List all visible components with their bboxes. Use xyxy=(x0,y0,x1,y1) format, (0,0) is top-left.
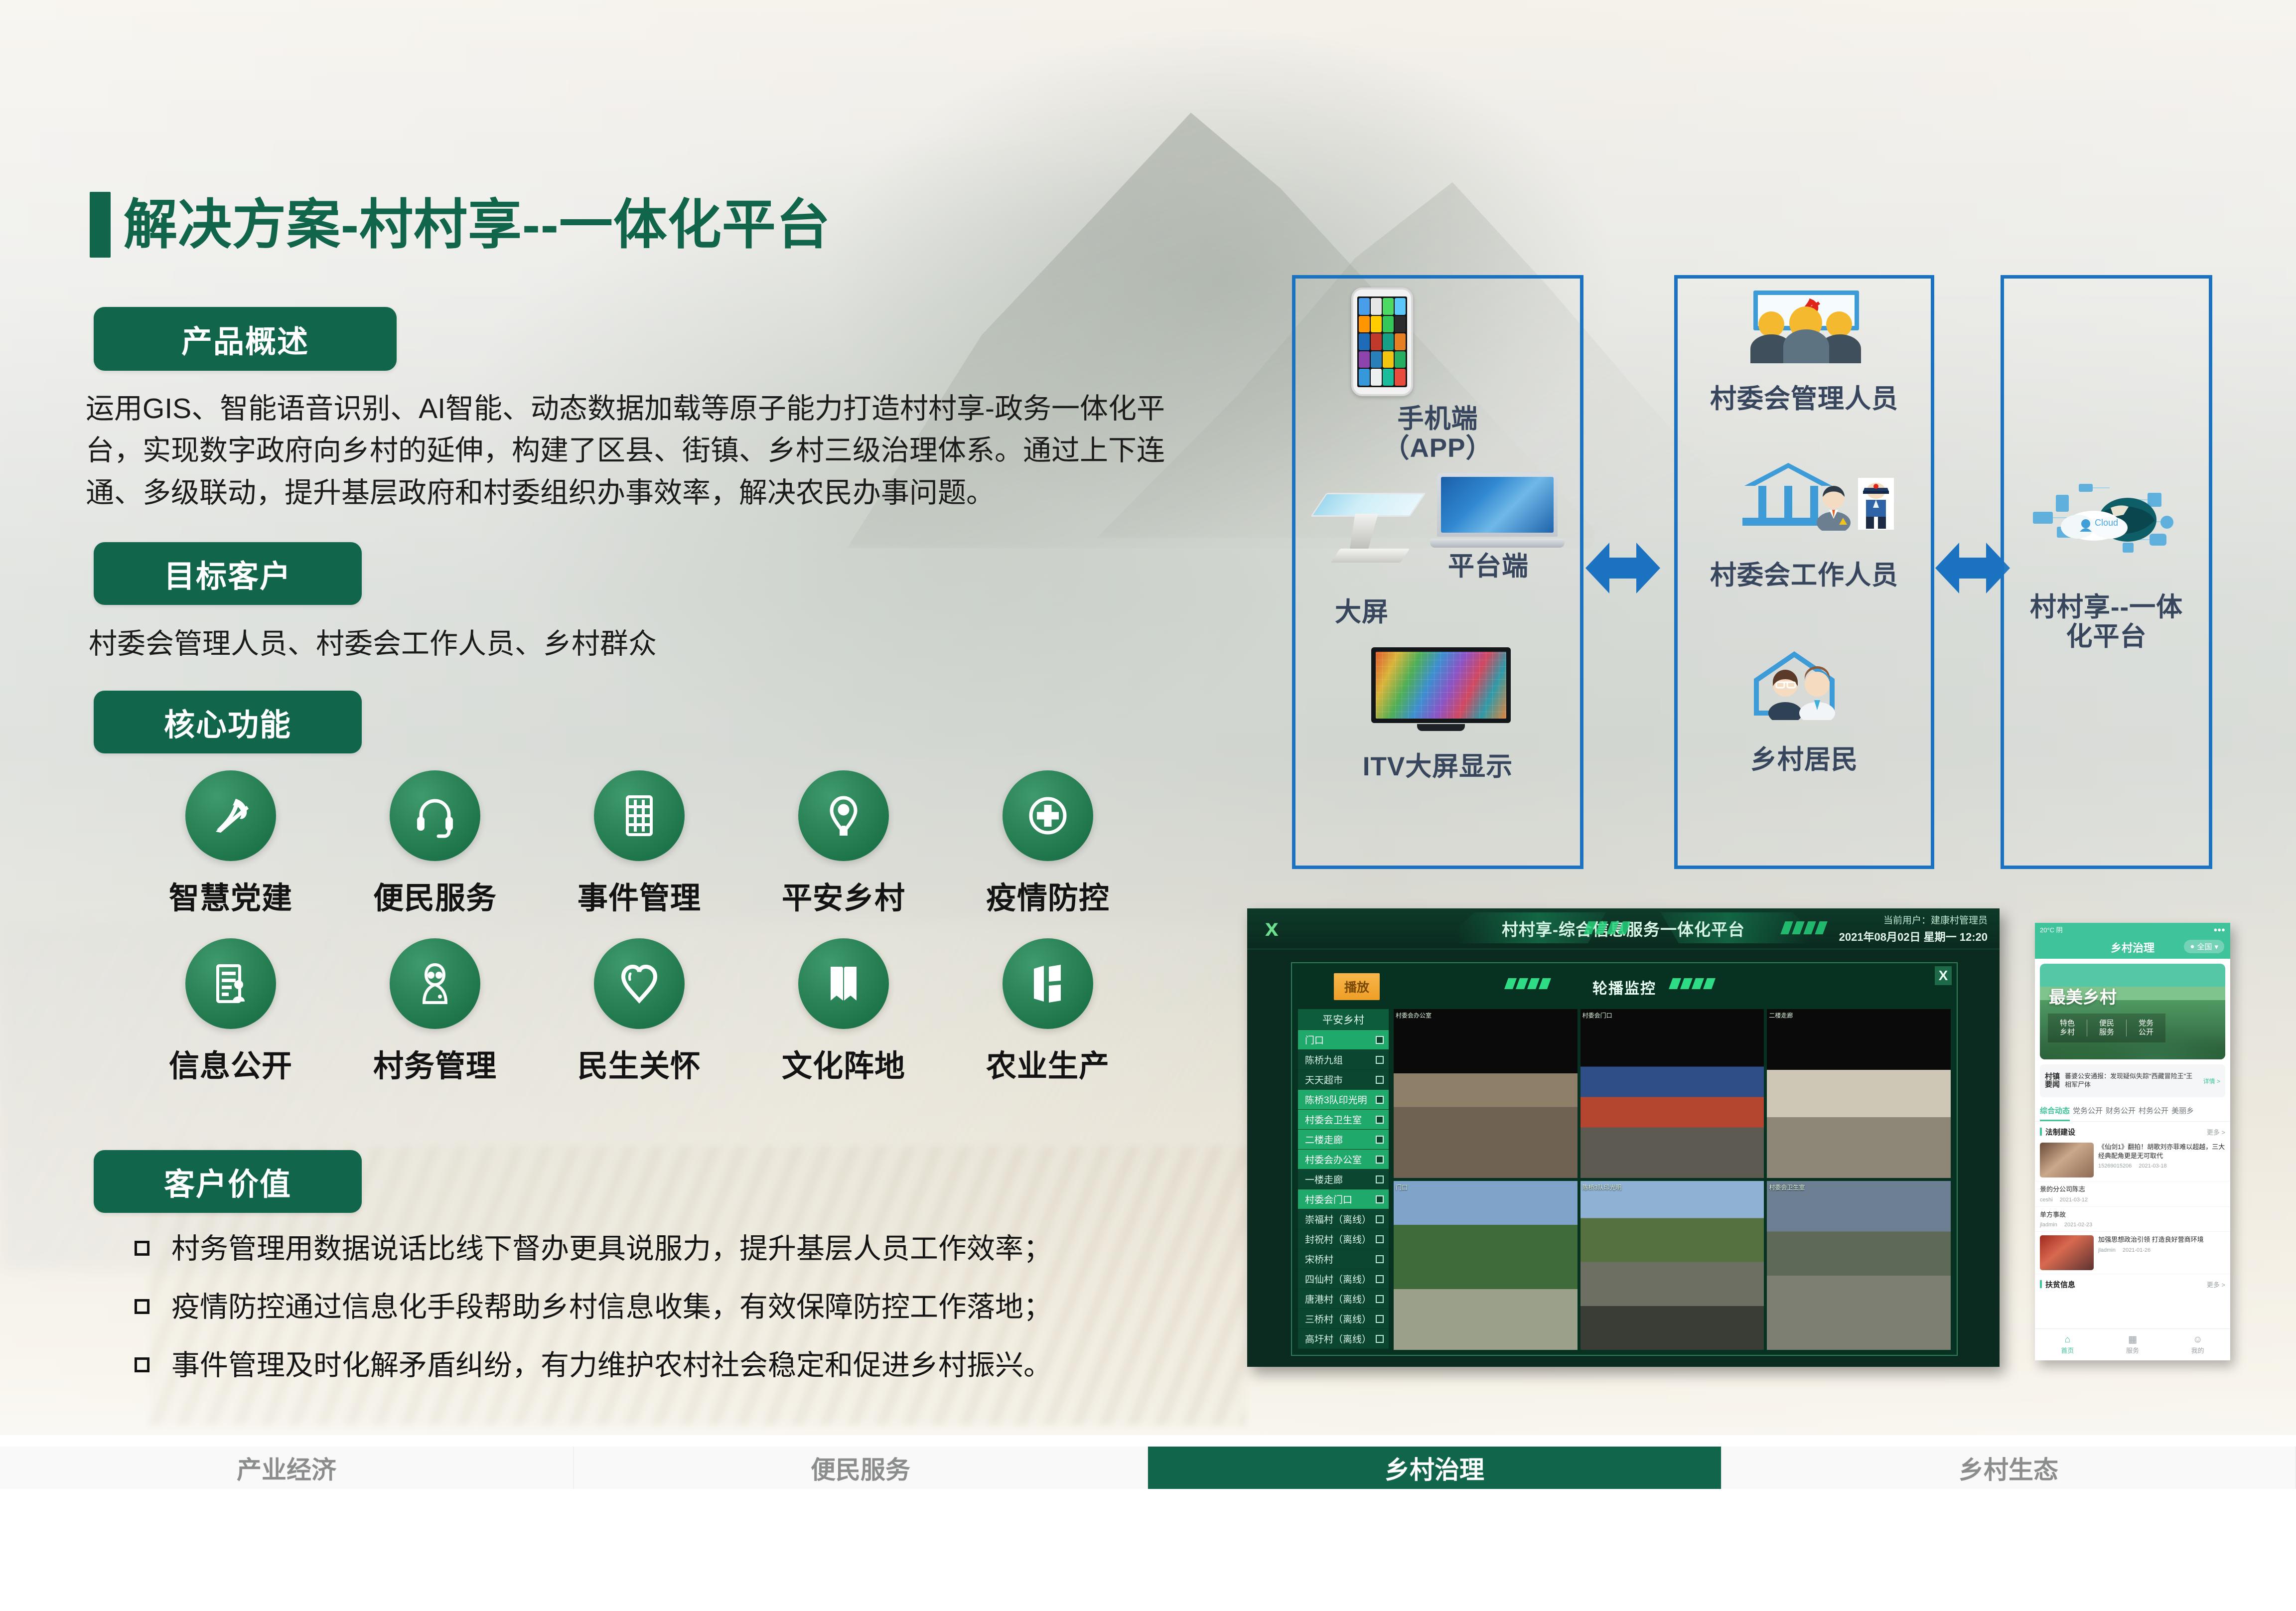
camera-tile[interactable]: 门口 xyxy=(1394,1181,1578,1350)
home-icon: ⌂ xyxy=(2035,1334,2100,1346)
camera-list-item[interactable]: 村委会门口 xyxy=(1298,1189,1389,1209)
heart-icon xyxy=(594,938,685,1029)
item-author: ceshi xyxy=(2040,1197,2053,1203)
television-icon xyxy=(1371,647,1511,734)
camera-list-item[interactable]: 陈桥九组 xyxy=(1298,1050,1389,1070)
bullet-text: 村务管理用数据说话比线下督办更具说服力，提升基层人员工作效率； xyxy=(171,1230,1052,1268)
bullet-square-icon xyxy=(135,1357,149,1372)
section-title: 法制建设 xyxy=(2045,1128,2075,1137)
location-selector[interactable]: ● 全国 ▾ xyxy=(2184,940,2224,953)
list-item[interactable]: 单方事故 jladmin 2021-02-23 xyxy=(2035,1207,2230,1232)
user-line: 当前用户：建康村管理员 xyxy=(1839,913,1988,928)
medical-cross-icon xyxy=(1003,770,1093,861)
bullet-text: 事件管理及时化解矛盾纠纷，有力维护农村社会稳定和促进乡村振兴。 xyxy=(171,1346,1052,1385)
bottom-nav-services[interactable]: ▦ 服务 xyxy=(2100,1334,2165,1355)
architecture-panel-platform: Cloud 村村享--一体 化平台 xyxy=(2001,275,2212,869)
current-user-info: 当前用户：建康村管理员 2021年08月02日 星期一 12:20 xyxy=(1839,913,1988,946)
item-title: 《仙剑1》翻拍！胡歌刘亦菲难以超越，三大经典配角更是无可取代 xyxy=(2098,1143,2225,1160)
checkbox-icon[interactable] xyxy=(1376,1116,1384,1124)
section-heading-functions: 核心功能 xyxy=(94,691,362,753)
double-arrow-icon xyxy=(1585,536,1660,600)
camera-list-item[interactable]: 一楼走廊 xyxy=(1298,1170,1389,1189)
grid-icon: ▦ xyxy=(2100,1334,2165,1346)
architecture-panel-roles: 村委会管理人员 xyxy=(1674,275,1934,869)
architecture-panel-terminals: 手机端 （APP） 平台端 大屏 ITV大屏显示 xyxy=(1292,275,1583,869)
banner-title: 最美乡村 xyxy=(2049,984,2117,1008)
header-stripes-right xyxy=(1783,921,1825,934)
banner-tab-featured-village[interactable]: 特色乡村 xyxy=(2048,1019,2087,1037)
function-item-village-affairs[interactable]: 村务管理 xyxy=(333,938,537,1085)
checkbox-icon[interactable] xyxy=(1376,1335,1384,1343)
kiosk-icon xyxy=(1318,493,1423,569)
grid-building-icon xyxy=(594,770,685,861)
item-date: 2021-03-12 xyxy=(2060,1197,2088,1203)
camera-list-item[interactable]: 高圩村（离线） xyxy=(1298,1329,1389,1349)
laptop-icon xyxy=(1430,473,1565,548)
function-label: 智慧党建 xyxy=(169,873,292,917)
location-pin-icon: ● xyxy=(2190,942,2194,951)
section-heading-overview: 产品概述 xyxy=(94,307,397,371)
section-header-legal: 法制建设 更多 > xyxy=(2035,1122,2230,1139)
checkbox-icon[interactable] xyxy=(1376,1036,1384,1044)
carousel-monitor-dialog: X 轮播监控 播放 平安乡村 门口 陈桥九组 天天超市 陈桥3队印光明 村委会卫… xyxy=(1291,962,1958,1356)
banner-tab-public-service[interactable]: 便民服务 xyxy=(2087,1019,2126,1037)
person-glasses-icon xyxy=(390,938,480,1029)
customer-paragraph: 村委会管理人员、村委会工作人员、乡村群众 xyxy=(89,623,1135,665)
news-text: 蕃婆公安通报：发现疑似失踪"西藏冒险王"王相军尸体 xyxy=(2065,1072,2198,1089)
page-title: 解决方案-村村享--一体化平台 xyxy=(90,192,831,258)
item-date: 2021-02-23 xyxy=(2064,1222,2092,1228)
news-badge: 村镇要闻 xyxy=(2045,1073,2060,1089)
app-bottom-nav: ⌂ 首页 ▦ 服务 ☺ 我的 xyxy=(2035,1328,2230,1360)
svg-text:Cloud: Cloud xyxy=(2095,518,2118,528)
document-list-icon xyxy=(185,938,276,1029)
camera-list-item[interactable]: 二楼走廊 xyxy=(1298,1130,1389,1150)
checkbox-icon[interactable] xyxy=(1376,1215,1384,1223)
camera-grid: 村委会办公室 村委会门口 二楼走廊 门口 陈桥3队印光明 村委会卫生室 xyxy=(1394,1009,1951,1350)
house-residents-icon xyxy=(1742,647,1867,722)
headset-icon xyxy=(390,770,480,861)
camera-list-item[interactable]: 村委会卫生室 xyxy=(1298,1110,1389,1130)
cloud-globe-icon: Cloud xyxy=(2030,478,2179,565)
checkbox-icon[interactable] xyxy=(1376,1235,1384,1243)
item-date: 2021-03-18 xyxy=(2139,1163,2166,1169)
tab-party-affairs[interactable]: 党务公开 xyxy=(2073,1105,2103,1121)
footer-tab-village-governance[interactable]: 乡村治理 xyxy=(1148,1447,1722,1489)
item-author: 15269015206 xyxy=(2098,1163,2132,1169)
section-heading-customer: 目标客户 xyxy=(94,542,362,605)
terminal-label-mobile: 手机端 （APP） xyxy=(1295,404,1580,463)
camera-tile[interactable]: 村委会门口 xyxy=(1580,1009,1764,1178)
function-label: 信息公开 xyxy=(169,1041,292,1085)
app-nav-title: 乡村治理 xyxy=(2111,939,2154,955)
tab-finance[interactable]: 财务公开 xyxy=(2106,1105,2136,1121)
camera-list-item[interactable]: 陈桥3队印光明 xyxy=(1298,1090,1389,1110)
title-accent-bar xyxy=(90,192,111,258)
list-item[interactable]: 《仙剑1》翻拍！胡歌刘亦菲难以超越，三大经典配角更是无可取代 152690152… xyxy=(2035,1139,2230,1181)
tab-village-affairs[interactable]: 村务公开 xyxy=(2139,1105,2168,1121)
double-arrow-icon xyxy=(1935,536,2010,600)
item-author: jladmin xyxy=(2098,1247,2116,1253)
platform-screenshot: x 村村享-综合信息服务一体化平台 当前用户：建康村管理员 2021年08月02… xyxy=(1247,908,2000,1367)
dialog-stripes-right xyxy=(1671,978,1714,989)
item-title: 单方事故 xyxy=(2040,1210,2225,1219)
camera-list-item[interactable]: 唐港村（离线） xyxy=(1298,1289,1389,1309)
government-building-icon xyxy=(1740,463,1865,533)
list-item[interactable]: 加强思想政治引领 打造良好营商环境 jladmin 2021-01-26 xyxy=(2035,1232,2230,1274)
checkbox-icon[interactable] xyxy=(1376,1076,1384,1084)
camera-list-item[interactable]: 天天超市 xyxy=(1298,1070,1389,1090)
footer-tab-village-ecology[interactable]: 乡村生态 xyxy=(1722,1447,2296,1489)
camera-list-item[interactable]: 门口 xyxy=(1298,1030,1389,1050)
terminal-label-itv: ITV大屏显示 xyxy=(1295,752,1580,781)
camera-tile[interactable]: 二楼走廊 xyxy=(1767,1009,1951,1178)
residents-couple-icon xyxy=(1766,665,1841,720)
checkbox-icon[interactable] xyxy=(1376,1295,1384,1303)
section-title: 扶贫信息 xyxy=(2045,1281,2075,1289)
smartphone-icon xyxy=(1351,288,1413,396)
bottom-nav-mine[interactable]: ☺ 我的 xyxy=(2165,1334,2230,1355)
camera-list-item[interactable]: 三桥村（离线） xyxy=(1298,1309,1389,1329)
camera-list-item[interactable]: 崇福村（离线） xyxy=(1298,1209,1389,1229)
camera-list-item[interactable]: 四仙村（离线） xyxy=(1298,1269,1389,1289)
bottom-nav-label: 我的 xyxy=(2191,1347,2204,1354)
function-item-safe-village[interactable]: 平安乡村 xyxy=(741,770,946,917)
news-ticker[interactable]: 村镇要闻 蕃婆公安通报：发现疑似失踪"西藏冒险王"王相军尸体 详情 > xyxy=(2040,1064,2225,1097)
camera-list-item[interactable]: 村委会办公室 xyxy=(1298,1150,1389,1170)
checkbox-icon[interactable] xyxy=(1376,1056,1384,1064)
section-heading-value: 客户价值 xyxy=(94,1150,362,1213)
function-label: 事件管理 xyxy=(577,873,701,917)
camera-list-header: 平安乡村 xyxy=(1298,1009,1389,1030)
chevron-down-icon: ▾ xyxy=(2214,942,2218,951)
app-status-bar: 20°C 阴 ●●● xyxy=(2035,923,2230,936)
section-accent-bar xyxy=(2040,1128,2042,1136)
checkbox-icon[interactable] xyxy=(1376,1255,1384,1263)
news-more-link[interactable]: 详情 > xyxy=(2203,1077,2220,1085)
role-label-residents: 乡村居民 xyxy=(1678,745,1931,774)
item-thumbnail xyxy=(2040,1143,2094,1177)
function-label: 村务管理 xyxy=(373,1041,497,1085)
footer-nav: 产业经济 便民服务 乡村治理 乡村生态 xyxy=(0,1447,2296,1489)
function-item-agriculture[interactable]: 农业生产 xyxy=(946,938,1150,1085)
item-title: 加强思想政治引领 打造良好营商环境 xyxy=(2098,1235,2225,1244)
title-text: 解决方案-村村享--一体化平台 xyxy=(124,198,831,252)
platform-label: 村村享--一体 化平台 xyxy=(2004,592,2209,652)
checkbox-icon[interactable] xyxy=(1376,1136,1384,1144)
function-label: 平安乡村 xyxy=(782,873,905,917)
section-more-link[interactable]: 更多 > xyxy=(2207,1127,2225,1137)
weather-label: 20°C 阴 xyxy=(2040,925,2063,934)
role-label-managers: 村委会管理人员 xyxy=(1678,384,1931,414)
overview-paragraph: 运用GIS、智能语音识别、AI智能、动态数据加载等原子能力打造村村享-政务一体化… xyxy=(86,388,1177,514)
function-item-welfare-care[interactable]: 民生关怀 xyxy=(537,938,741,1085)
people-group-icon xyxy=(1743,291,1868,371)
footer-tab-public-service[interactable]: 便民服务 xyxy=(574,1447,1148,1489)
function-item-party-building[interactable]: 智慧党建 xyxy=(129,770,333,917)
farm-field-icon xyxy=(1003,938,1093,1029)
app-tab-strip: 综合动态 党务公开 财务公开 村务公开 美丽乡 xyxy=(2035,1099,2230,1122)
signal-icons: ●●● xyxy=(2213,926,2225,933)
function-item-event-management[interactable]: 事件管理 xyxy=(537,770,741,917)
function-label: 民生关怀 xyxy=(577,1041,701,1085)
open-book-icon xyxy=(798,938,889,1029)
camera-tile[interactable]: 村委会办公室 xyxy=(1394,1009,1578,1178)
function-label: 文化阵地 xyxy=(782,1041,905,1085)
banner-tabs: 特色乡村 便民服务 党务公开 xyxy=(2048,1014,2165,1042)
item-thumbnail xyxy=(2040,1235,2094,1270)
section-accent-bar xyxy=(2040,1280,2042,1288)
core-function-grid: 智慧党建 便民服务 事件管理 xyxy=(129,770,1150,1085)
camera-tile[interactable]: 陈桥3队印光明 xyxy=(1580,1181,1764,1350)
tab-comprehensive[interactable]: 综合动态 xyxy=(2040,1105,2070,1121)
list-item: 村务管理用数据说话比线下督办更具说服力，提升基层人员工作效率； xyxy=(135,1230,1191,1268)
list-item: 事件管理及时化解矛盾纠纷，有力维护农村社会稳定和促进乡村振兴。 xyxy=(135,1346,1191,1385)
bottom-nav-label: 服务 xyxy=(2126,1347,2139,1354)
checkbox-icon[interactable] xyxy=(1376,1195,1384,1203)
slide-footer: 产业经济 便民服务 乡村治理 乡村生态 xyxy=(0,1435,2296,1611)
function-item-public-service[interactable]: 便民服务 xyxy=(333,770,537,917)
camera-tile[interactable]: 村委会卫生室 xyxy=(1767,1181,1951,1350)
section-more-link[interactable]: 更多 > xyxy=(2207,1280,2225,1289)
value-bullet-list: 村务管理用数据说话比线下督办更具说服力，提升基层人员工作效率； 疫情防控通过信息… xyxy=(135,1230,1191,1405)
item-author: jladmin xyxy=(2040,1222,2057,1228)
function-label: 农业生产 xyxy=(986,1041,1110,1085)
tab-beautiful-village[interactable]: 美丽乡 xyxy=(2171,1105,2194,1121)
camera-list[interactable]: 平安乡村 门口 陈桥九组 天天超市 陈桥3队印光明 村委会卫生室 二楼走廊 村委… xyxy=(1298,1009,1389,1350)
function-item-epidemic-control[interactable]: 疫情防控 xyxy=(946,770,1150,917)
checkbox-icon[interactable] xyxy=(1376,1156,1384,1164)
section-header-poverty-relief: 扶贫信息 更多 > xyxy=(2035,1274,2230,1292)
terminal-label-platform: 平台端 xyxy=(1406,552,1571,581)
footer-tab-industry-economy[interactable]: 产业经济 xyxy=(0,1447,574,1489)
app-navbar: 乡村治理 ● 全国 ▾ xyxy=(2035,936,2230,959)
user-icon: ☺ xyxy=(2165,1334,2230,1346)
bottom-nav-home[interactable]: ⌂ 首页 xyxy=(2035,1334,2100,1355)
location-pin-icon xyxy=(798,770,889,861)
hammer-sickle-icon xyxy=(185,770,276,861)
list-item[interactable]: 景的分公司陈志 ceshi 2021-03-12 xyxy=(2035,1181,2230,1207)
camera-list-item[interactable]: 宋桥村 xyxy=(1298,1249,1389,1269)
checkbox-icon[interactable] xyxy=(1376,1315,1384,1323)
list-item: 疫情防控通过信息化手段帮助乡村信息收集，有效保障防控工作落地； xyxy=(135,1288,1191,1326)
bullet-square-icon xyxy=(135,1299,149,1314)
function-item-info-disclosure[interactable]: 信息公开 xyxy=(129,938,333,1085)
function-item-culture-base[interactable]: 文化阵地 xyxy=(741,938,946,1085)
function-label: 便民服务 xyxy=(373,873,497,917)
function-label: 疫情防控 xyxy=(986,873,1110,917)
checkbox-icon[interactable] xyxy=(1376,1275,1384,1283)
item-date: 2021-01-26 xyxy=(2123,1247,2151,1253)
bottom-nav-label: 首页 xyxy=(2061,1347,2074,1354)
platform-header: x 村村享-综合信息服务一体化平台 当前用户：建康村管理员 2021年08月02… xyxy=(1247,908,2000,949)
police-officer-icon xyxy=(1858,478,1894,530)
checkbox-icon[interactable] xyxy=(1376,1175,1384,1183)
bullet-square-icon xyxy=(135,1241,149,1256)
datetime-line: 2021年08月02日 星期一 12:20 xyxy=(1839,928,1988,946)
role-label-staff: 村委会工作人员 xyxy=(1678,561,1931,590)
location-label: 全国 xyxy=(2197,941,2212,952)
bullet-text: 疫情防控通过信息化手段帮助乡村信息收集，有效保障防控工作落地； xyxy=(171,1288,1052,1326)
camera-list-item[interactable]: 封祝村（离线） xyxy=(1298,1229,1389,1249)
dialog-stripes-left xyxy=(1506,978,1549,989)
staff-person-icon xyxy=(1814,482,1853,531)
slide-canvas: 解决方案-村村享--一体化平台 产品概述 运用GIS、智能语音识别、AI智能、动… xyxy=(0,0,2296,1611)
dialog-title: 轮播监控 xyxy=(1292,976,1957,998)
app-banner[interactable]: 最美乡村 特色乡村 便民服务 党务公开 xyxy=(2040,964,2225,1059)
banner-tab-party-affairs[interactable]: 党务公开 xyxy=(2127,1019,2165,1037)
item-title: 景的分公司陈志 xyxy=(2040,1185,2225,1194)
header-stripes-left xyxy=(1586,921,1628,934)
terminal-label-bigscreen: 大屏 xyxy=(1304,597,1419,627)
checkbox-icon[interactable] xyxy=(1376,1096,1384,1104)
play-button[interactable]: 播放 xyxy=(1334,973,1380,1000)
mobile-app-mockup: 20°C 阴 ●●● 乡村治理 ● 全国 ▾ 最美乡村 特色乡村 便民服务 党务… xyxy=(2035,923,2230,1360)
